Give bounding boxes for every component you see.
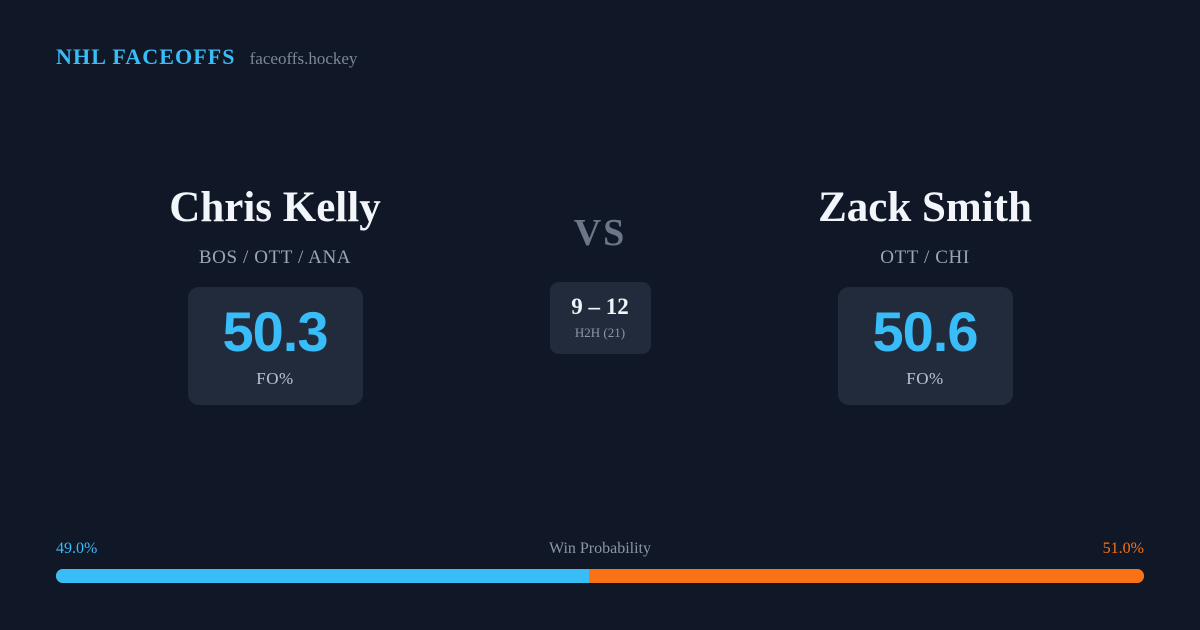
win-probability-bar-left xyxy=(56,569,589,583)
brand-domain: faceoffs.hockey xyxy=(250,49,358,69)
head-to-head-card: 9 – 12 H2H (21) xyxy=(550,282,651,354)
win-probability-section: 49.0% Win Probability 51.0% xyxy=(56,540,1144,583)
faceoff-percent-left: 50.3 xyxy=(223,304,328,360)
brand-title: NHL FACEOFFS xyxy=(56,44,236,70)
win-probability-title: Win Probability xyxy=(56,540,1144,558)
player-teams-left: BOS / OTT / ANA xyxy=(199,247,351,269)
head-to-head-label: H2H (21) xyxy=(575,325,625,341)
faceoff-percent-label-right: FO% xyxy=(906,369,943,389)
player-card-left: Chris Kelly BOS / OTT / ANA 50.3 FO% xyxy=(60,186,490,405)
player-name-left: Chris Kelly xyxy=(169,186,380,229)
win-probability-bar-right xyxy=(589,569,1144,583)
stat-card-left: 50.3 FO% xyxy=(188,287,363,405)
win-probability-right-value: 51.0% xyxy=(1103,540,1144,558)
player-card-right: Zack Smith OTT / CHI 50.6 FO% xyxy=(710,186,1140,405)
win-probability-labels: 49.0% Win Probability 51.0% xyxy=(56,540,1144,560)
faceoff-percent-right: 50.6 xyxy=(873,304,978,360)
brand-bar: NHL FACEOFFS faceoffs.hockey xyxy=(56,44,357,70)
versus-label: VS xyxy=(574,214,627,252)
versus-column: VS 9 – 12 H2H (21) xyxy=(490,186,710,354)
faceoff-percent-label-left: FO% xyxy=(256,369,293,389)
stat-card-right: 50.6 FO% xyxy=(838,287,1013,405)
win-probability-bar xyxy=(56,569,1144,583)
player-name-right: Zack Smith xyxy=(818,186,1032,229)
head-to-head-score: 9 – 12 xyxy=(571,295,629,318)
player-teams-right: OTT / CHI xyxy=(880,247,970,269)
matchup-section: Chris Kelly BOS / OTT / ANA 50.3 FO% VS … xyxy=(0,186,1200,405)
